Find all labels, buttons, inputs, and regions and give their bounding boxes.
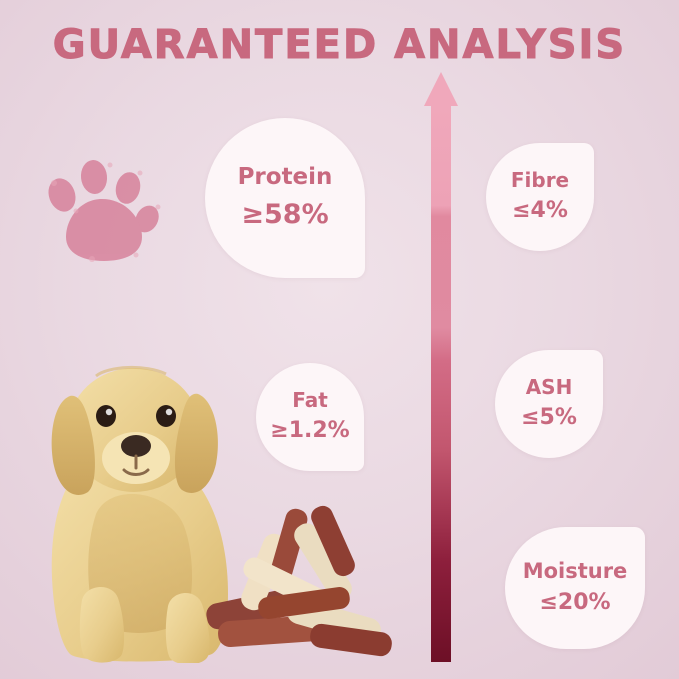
nutrient-bubble-fibre: Fibre ≤4% <box>486 143 594 251</box>
dog-treat-sticks-illustration <box>200 500 400 665</box>
nutrient-label-fat: Fat <box>292 389 328 412</box>
nutrient-value-fibre: ≤4% <box>512 197 568 225</box>
nutrient-value-ash: ≤5% <box>521 404 577 432</box>
nutrient-bubble-fat: Fat ≥1.2% <box>256 363 364 471</box>
nutrient-bubble-moisture: Moisture ≤20% <box>505 527 645 649</box>
nutrient-label-moisture: Moisture <box>523 559 628 583</box>
gradient-arrow-bar <box>424 72 458 662</box>
nutrient-bubble-ash: ASH ≤5% <box>495 350 603 458</box>
paw-print-icon <box>40 155 165 270</box>
nutrient-value-protein: ≥58% <box>241 198 328 232</box>
nutrient-label-ash: ASH <box>526 376 573 399</box>
arrow-head-icon <box>424 72 458 106</box>
page-title: GUARANTEED ANALYSIS <box>0 22 679 68</box>
nutrient-label-protein: Protein <box>238 164 333 190</box>
nutrient-label-fibre: Fibre <box>511 169 569 192</box>
nutrient-value-moisture: ≤20% <box>539 589 610 617</box>
nutrient-value-fat: ≥1.2% <box>270 417 349 445</box>
arrow-body <box>431 105 451 662</box>
nutrient-bubble-protein: Protein ≥58% <box>205 118 365 278</box>
